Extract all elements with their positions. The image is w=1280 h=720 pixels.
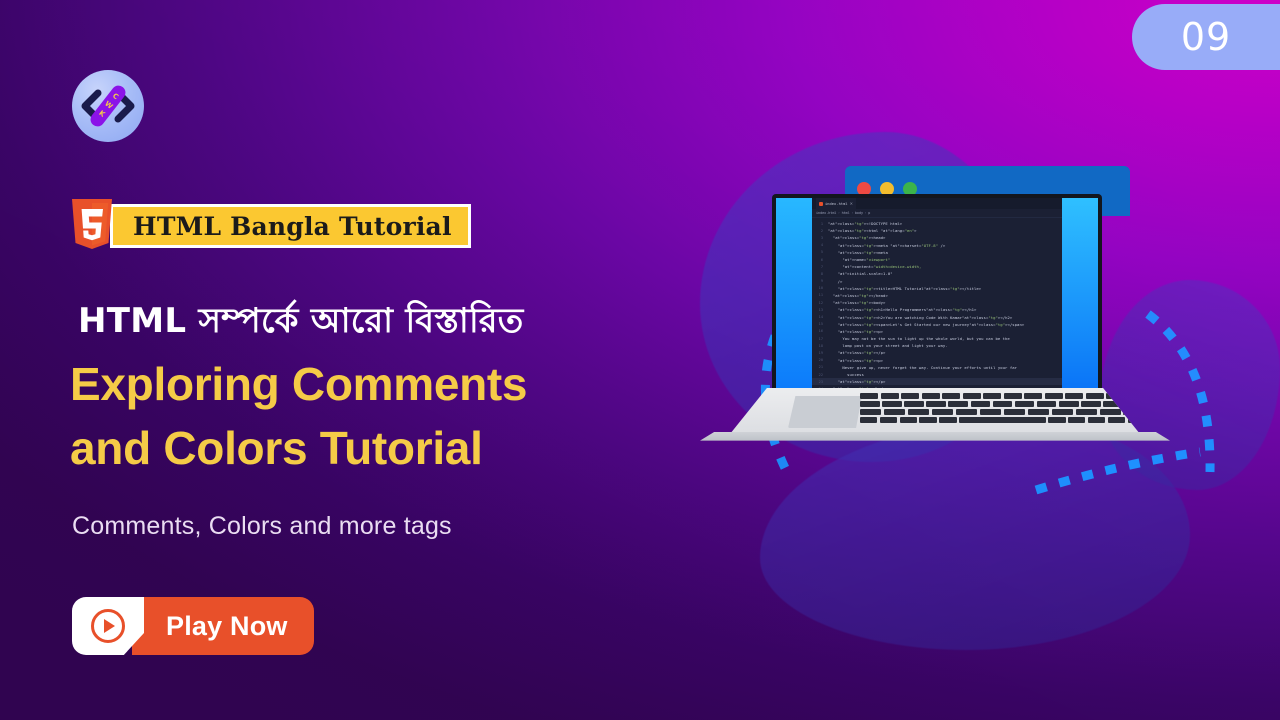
code-line: 4 "at">class="tg"><meta "at">charset="UT… bbox=[812, 242, 1062, 249]
page-title: Exploring Comments and Colors Tutorial bbox=[70, 352, 527, 480]
keyboard-key bbox=[1088, 417, 1105, 423]
code-line: 18 lamp post on your street and light yo… bbox=[812, 342, 1062, 349]
keyboard-key bbox=[1123, 409, 1144, 415]
laptop-keyboard bbox=[860, 393, 1145, 431]
keyboard-key bbox=[926, 401, 946, 407]
keyboard-key bbox=[1004, 409, 1025, 415]
page-title-line1: Exploring Comments bbox=[70, 352, 527, 416]
keyboard-key bbox=[1059, 401, 1079, 407]
keyboard-key bbox=[860, 417, 877, 423]
code-line-text: "at">class="tg"><h2>You are watching Cod… bbox=[828, 315, 1012, 320]
keyboard-key bbox=[1028, 409, 1049, 415]
play-now-label: Play Now bbox=[132, 597, 314, 655]
bangla-heading: HTML সম্পর্কে আরো বিস্তারিত bbox=[78, 295, 524, 352]
laptop-deck bbox=[730, 388, 1140, 434]
code-line: 16 "at">class="tg"><p> bbox=[812, 328, 1062, 335]
breadcrumb-item[interactable]: body bbox=[855, 211, 863, 215]
breadcrumb-separator: › bbox=[838, 211, 839, 215]
screen-left-panel bbox=[776, 198, 812, 390]
code-line-number: 6 bbox=[812, 258, 828, 262]
code-line: 17 You may not be the sun to light up th… bbox=[812, 335, 1062, 342]
code-line: 1"at">class="tg"><!DOCTYPE html> bbox=[812, 220, 1062, 227]
keyboard-key bbox=[1076, 409, 1097, 415]
code-line-number: 5 bbox=[812, 250, 828, 254]
keyboard-key bbox=[1125, 401, 1145, 407]
code-line-number: 3 bbox=[812, 236, 828, 240]
code-line: 2"at">class="tg"><html "at">lang="en"> bbox=[812, 227, 1062, 234]
code-line: 14 "at">class="tg"><h2>You are watching … bbox=[812, 313, 1062, 320]
laptop-base bbox=[700, 388, 1170, 452]
breadcrumb-item[interactable]: index.html bbox=[816, 211, 836, 215]
code-line-number: 11 bbox=[812, 293, 828, 297]
keyboard-key bbox=[971, 401, 991, 407]
code-line-number: 14 bbox=[812, 315, 828, 319]
code-line-text: "at">initial-scale=1.0" bbox=[828, 271, 893, 276]
code-line: 13 "at">class="tg"><h1>Hello Programmers… bbox=[812, 306, 1062, 313]
code-line-number: 8 bbox=[812, 272, 828, 276]
code-line-text: "at">class="tg"><p> bbox=[828, 358, 883, 363]
keyboard-key bbox=[1024, 393, 1042, 399]
code-line-text: "at">class="tg"><head> bbox=[828, 235, 885, 240]
keyboard-key bbox=[1108, 417, 1125, 423]
episode-number: 09 bbox=[1181, 15, 1231, 59]
code-line-text: "at">class="tg"></p> bbox=[828, 379, 885, 384]
keyboard-key bbox=[1004, 393, 1022, 399]
code-line-text: "at">class="tg"><p> bbox=[828, 329, 883, 334]
code-line-text: "at">class="tg"><body> bbox=[828, 300, 885, 305]
code-line-number: 2 bbox=[812, 229, 828, 233]
keyboard-key bbox=[904, 401, 924, 407]
code-line-text: "at">name="viewport" bbox=[828, 257, 890, 262]
keyboard-key bbox=[1068, 417, 1085, 423]
code-line-number: 16 bbox=[812, 329, 828, 333]
keyboard-key bbox=[900, 417, 917, 423]
keyboard-key bbox=[1100, 409, 1121, 415]
editor-code-area[interactable]: 1"at">class="tg"><!DOCTYPE html>2"at">cl… bbox=[812, 218, 1062, 390]
keyboard-key bbox=[932, 409, 953, 415]
code-line-text: "at">class="tg"><!DOCTYPE html> bbox=[828, 221, 902, 226]
code-line: 12 "at">class="tg"><body> bbox=[812, 299, 1062, 306]
code-line: 11 "at">class="tg"></head> bbox=[812, 292, 1062, 299]
code-line-text: You may not be the sun to light up the w… bbox=[828, 336, 1010, 341]
keyboard-key bbox=[1127, 393, 1145, 399]
keyboard-key bbox=[1086, 393, 1104, 399]
code-line-number: 20 bbox=[812, 358, 828, 362]
breadcrumb-separator: › bbox=[865, 211, 866, 215]
keyboard-row bbox=[860, 417, 1145, 423]
laptop-illustration: index.html ✕ index.html›html›body›p 1"at… bbox=[700, 120, 1240, 500]
keyboard-key bbox=[860, 393, 878, 399]
keyboard-key bbox=[901, 393, 919, 399]
editor-tabbar: index.html ✕ bbox=[812, 198, 1062, 209]
keyboard-key bbox=[880, 417, 897, 423]
code-editor: index.html ✕ index.html›html›body›p 1"at… bbox=[812, 198, 1062, 390]
keyboard-key bbox=[980, 409, 1001, 415]
code-line-number: 4 bbox=[812, 243, 828, 247]
breadcrumb-separator: › bbox=[852, 211, 853, 215]
breadcrumb-item[interactable]: p bbox=[868, 211, 870, 215]
code-line-number: 17 bbox=[812, 337, 828, 341]
code-line: 9 /> bbox=[812, 278, 1062, 285]
html-file-icon bbox=[819, 202, 823, 206]
keyboard-key bbox=[919, 417, 936, 423]
keyboard-key bbox=[1052, 409, 1073, 415]
code-line-text: lamp post on your street and light your … bbox=[828, 343, 948, 348]
code-line: 3 "at">class="tg"><head> bbox=[812, 234, 1062, 241]
editor-breadcrumb: index.html›html›body›p bbox=[812, 209, 1062, 218]
laptop-front-edge bbox=[700, 432, 1170, 446]
laptop-lid: index.html ✕ index.html›html›body›p 1"at… bbox=[772, 194, 1102, 394]
code-line-text: "at">class="tg"><html "at">lang="en"> bbox=[828, 228, 917, 233]
play-triangle bbox=[104, 619, 115, 633]
play-circle-outline bbox=[91, 609, 125, 643]
code-brackets-icon: C W K bbox=[72, 70, 144, 142]
code-line-text: "at">class="tg"></p> bbox=[828, 350, 885, 355]
laptop-trackpad bbox=[788, 396, 862, 428]
keyboard-key bbox=[1081, 401, 1101, 407]
code-line: 8 "at">initial-scale=1.0" bbox=[812, 270, 1062, 277]
code-line-text: success bbox=[828, 372, 864, 377]
code-line-text: "at">class="tg"><meta bbox=[828, 250, 888, 255]
keyboard-key bbox=[884, 409, 905, 415]
code-line: 5 "at">class="tg"><meta bbox=[812, 249, 1062, 256]
keyboard-key bbox=[959, 417, 1046, 423]
code-line-number: 21 bbox=[812, 365, 828, 369]
code-line-text: "at">class="tg"></head> bbox=[828, 293, 888, 298]
keyboard-key bbox=[963, 393, 981, 399]
keyboard-key bbox=[956, 409, 977, 415]
keyboard-key bbox=[1065, 393, 1083, 399]
code-line: 23 "at">class="tg"></p> bbox=[812, 378, 1062, 385]
code-line: 20 "at">class="tg"><p> bbox=[812, 357, 1062, 364]
code-line-number: 12 bbox=[812, 301, 828, 305]
keyboard-key bbox=[948, 401, 968, 407]
code-line-number: 15 bbox=[812, 322, 828, 326]
code-line-text: /> bbox=[828, 279, 842, 284]
code-line: 10 "at">class="tg"><title>HTML Tutorial"… bbox=[812, 285, 1062, 292]
html5-logo-icon bbox=[70, 197, 114, 255]
code-line-number: 22 bbox=[812, 373, 828, 377]
code-line-number: 1 bbox=[812, 222, 828, 226]
code-line-number: 13 bbox=[812, 308, 828, 312]
keyboard-row bbox=[860, 393, 1145, 399]
page-title-line2: and Colors Tutorial bbox=[70, 416, 527, 480]
code-line-number: 18 bbox=[812, 344, 828, 348]
code-line-text: "at">content="width=device-width, bbox=[828, 264, 921, 269]
code-line: 22 success bbox=[812, 371, 1062, 378]
slide-canvas: 09 C W K HTML Bangla Tutorial HTM bbox=[0, 0, 1280, 720]
keyboard-key bbox=[922, 393, 940, 399]
close-icon[interactable]: ✕ bbox=[850, 201, 853, 206]
code-line-number: 23 bbox=[812, 380, 828, 384]
code-line-number: 19 bbox=[812, 351, 828, 355]
screen-right-panel bbox=[1062, 198, 1098, 390]
keyboard-key bbox=[993, 401, 1013, 407]
code-line-number: 7 bbox=[812, 265, 828, 269]
page-subtitle: Comments, Colors and more tags bbox=[72, 512, 452, 541]
keyboard-key bbox=[1045, 393, 1063, 399]
episode-badge: 09 bbox=[1132, 4, 1280, 70]
keyboard-key bbox=[1037, 401, 1057, 407]
breadcrumb-item[interactable]: html bbox=[842, 211, 850, 215]
laptop-screen: index.html ✕ index.html›html›body›p 1"at… bbox=[776, 198, 1098, 390]
tutorial-tag-label: HTML Bangla Tutorial bbox=[133, 212, 452, 241]
keyboard-key bbox=[983, 393, 1001, 399]
keyboard-key bbox=[1106, 393, 1124, 399]
code-line-text: "at">class="tg"><span>Let's Get Started … bbox=[828, 322, 1024, 327]
tutorial-tag-bar: HTML Bangla Tutorial bbox=[110, 204, 471, 248]
editor-tab-index-html[interactable]: index.html ✕ bbox=[816, 198, 856, 209]
code-line-text: "at">class="tg"><h1>Hello Programmers"at… bbox=[828, 307, 976, 312]
keyboard-row bbox=[860, 409, 1145, 415]
code-line-text: "at">class="tg"><meta "at">charset="UTF-… bbox=[828, 243, 945, 248]
code-line: 7 "at">content="width=device-width, bbox=[812, 263, 1062, 270]
keyboard-key bbox=[1128, 417, 1145, 423]
keyboard-key bbox=[882, 401, 902, 407]
keyboard-key bbox=[939, 417, 956, 423]
code-line-text: "at">class="tg"><title>HTML Tutorial"at"… bbox=[828, 286, 981, 291]
code-line: 21 Never give up, never forget the way. … bbox=[812, 364, 1062, 371]
editor-tab-label: index.html bbox=[825, 202, 848, 206]
keyboard-key bbox=[860, 401, 880, 407]
keyboard-key bbox=[1015, 401, 1035, 407]
keyboard-key bbox=[942, 393, 960, 399]
code-line-number: 9 bbox=[812, 279, 828, 283]
keyboard-key bbox=[1103, 401, 1123, 407]
keyboard-row bbox=[860, 401, 1145, 407]
code-line: 19 "at">class="tg"></p> bbox=[812, 349, 1062, 356]
keyboard-key bbox=[908, 409, 929, 415]
tutorial-tag: HTML Bangla Tutorial bbox=[70, 197, 471, 255]
code-line-text: Never give up, never forget the way. Con… bbox=[828, 365, 1017, 370]
brand-logo[interactable]: C W K bbox=[72, 70, 144, 142]
keyboard-key bbox=[881, 393, 899, 399]
keyboard-key bbox=[860, 409, 881, 415]
code-line: 15 "at">class="tg"><span>Let's Get Start… bbox=[812, 321, 1062, 328]
code-line: 6 "at">name="viewport" bbox=[812, 256, 1062, 263]
code-line-number: 10 bbox=[812, 286, 828, 290]
play-now-button[interactable]: Play Now bbox=[72, 597, 314, 655]
keyboard-key bbox=[1048, 417, 1065, 423]
